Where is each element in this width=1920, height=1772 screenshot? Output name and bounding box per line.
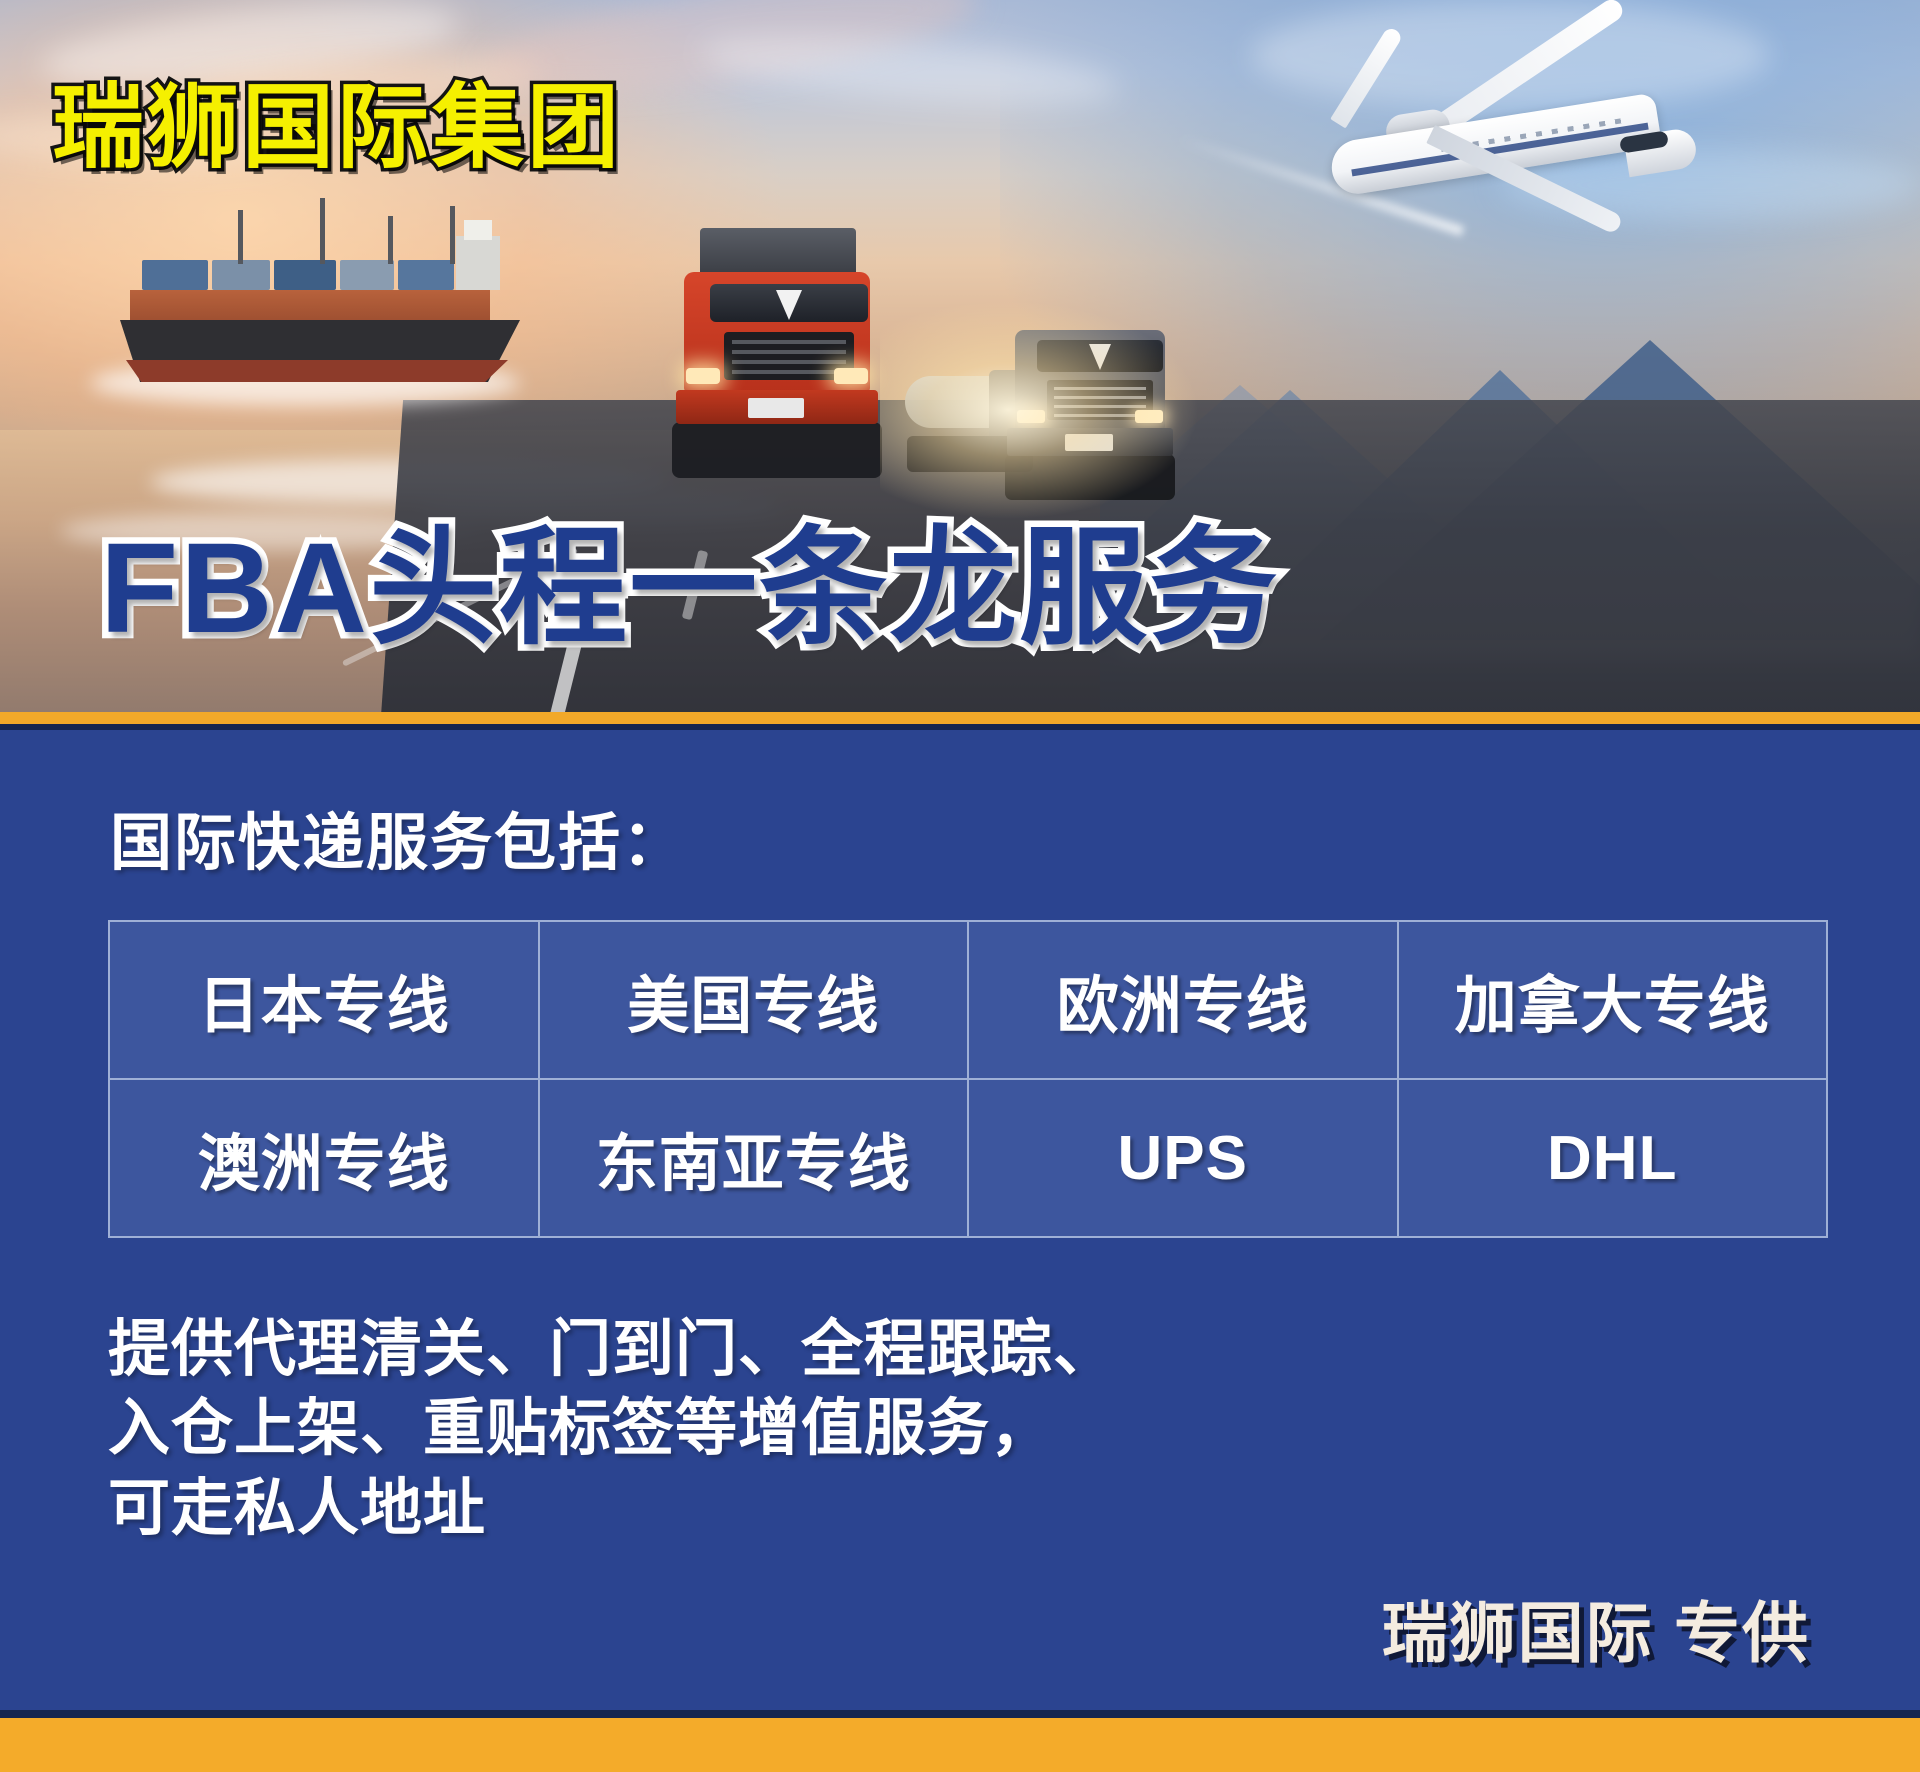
service-cell-us[interactable]: 美国专线 <box>539 921 969 1079</box>
body-line-3: 可走私人地址 <box>108 1469 1116 1548</box>
container-icon <box>212 260 270 290</box>
license-plate <box>1065 434 1113 451</box>
container-icon <box>142 260 208 290</box>
truck-emblem-icon <box>776 290 802 320</box>
body-line-1: 提供代理清关、门到门、全程跟踪、 <box>108 1310 1116 1389</box>
headlight-icon <box>834 368 868 384</box>
plane-tail-fin <box>1330 26 1404 129</box>
hero-title: FBA头程一条龙服务 <box>100 525 1279 653</box>
airplane-icon <box>1290 40 1710 260</box>
service-cell-jp[interactable]: 日本专线 <box>109 921 539 1079</box>
service-cell-dhl[interactable]: DHL <box>1398 1079 1828 1237</box>
table-row: 澳洲专线 东南亚专线 UPS DHL <box>109 1079 1827 1237</box>
body-line-2: 入仓上架、重贴标签等增值服务， <box>108 1389 1116 1468</box>
hero-banner: 瑞狮国际集团 FBA头程一条龙服务 <box>0 0 1920 730</box>
truck-wheels <box>1005 454 1175 500</box>
services-table: 日本专线 美国专线 欧洲专线 加拿大专线 澳洲专线 东南亚专线 UPS DHL <box>108 920 1828 1238</box>
crane-icon <box>450 206 455 264</box>
crane-icon <box>320 198 325 264</box>
headlight-icon <box>1017 410 1045 423</box>
service-cell-ups[interactable]: UPS <box>968 1079 1398 1237</box>
ship-hull-waterline <box>126 360 508 382</box>
ship-bridge-top <box>464 220 492 240</box>
service-cell-ca[interactable]: 加拿大专线 <box>1398 921 1828 1079</box>
truck-wheels <box>672 422 882 478</box>
truck-emblem-icon <box>1089 344 1111 370</box>
crane-icon <box>388 216 393 264</box>
cargo-ship-icon <box>120 232 550 382</box>
brand-signature: 瑞狮国际 专供 <box>1382 1580 1810 1676</box>
truck-trailer <box>700 228 856 276</box>
service-cell-sea[interactable]: 东南亚专线 <box>539 1079 969 1237</box>
license-plate <box>748 398 804 418</box>
accent-divider <box>0 712 1920 724</box>
footer-divider <box>0 1710 1920 1718</box>
service-cell-au[interactable]: 澳洲专线 <box>109 1079 539 1237</box>
table-row: 日本专线 美国专线 欧洲专线 加拿大专线 <box>109 921 1827 1079</box>
company-logo: 瑞狮国际集团 <box>52 82 622 174</box>
footer-accent-bar <box>0 1718 1920 1772</box>
services-panel: 国际快递服务包括： 日本专线 美国专线 欧洲专线 加拿大专线 澳洲专线 东南亚专… <box>0 730 1920 1710</box>
panel-heading: 国际快递服务包括： <box>110 792 686 882</box>
crane-icon <box>238 210 243 264</box>
ship-bridge <box>456 236 500 290</box>
value-added-services-text: 提供代理清关、门到门、全程跟踪、 入仓上架、重贴标签等增值服务， 可走私人地址 <box>108 1310 1116 1548</box>
container-icon <box>274 260 336 290</box>
service-cell-eu[interactable]: 欧洲专线 <box>968 921 1398 1079</box>
container-icon <box>340 260 394 290</box>
headlight-icon <box>1135 410 1163 423</box>
dark-truck-icon <box>1005 330 1175 510</box>
poster-canvas: 瑞狮国际集团 FBA头程一条龙服务 国际快递服务包括： 日本专线 美国专线 欧洲… <box>0 0 1920 1772</box>
ship-deck <box>130 290 490 324</box>
red-truck-icon <box>672 272 882 492</box>
plane-fuselage <box>1328 93 1662 198</box>
container-icon <box>398 260 454 290</box>
headlight-icon <box>686 368 720 384</box>
